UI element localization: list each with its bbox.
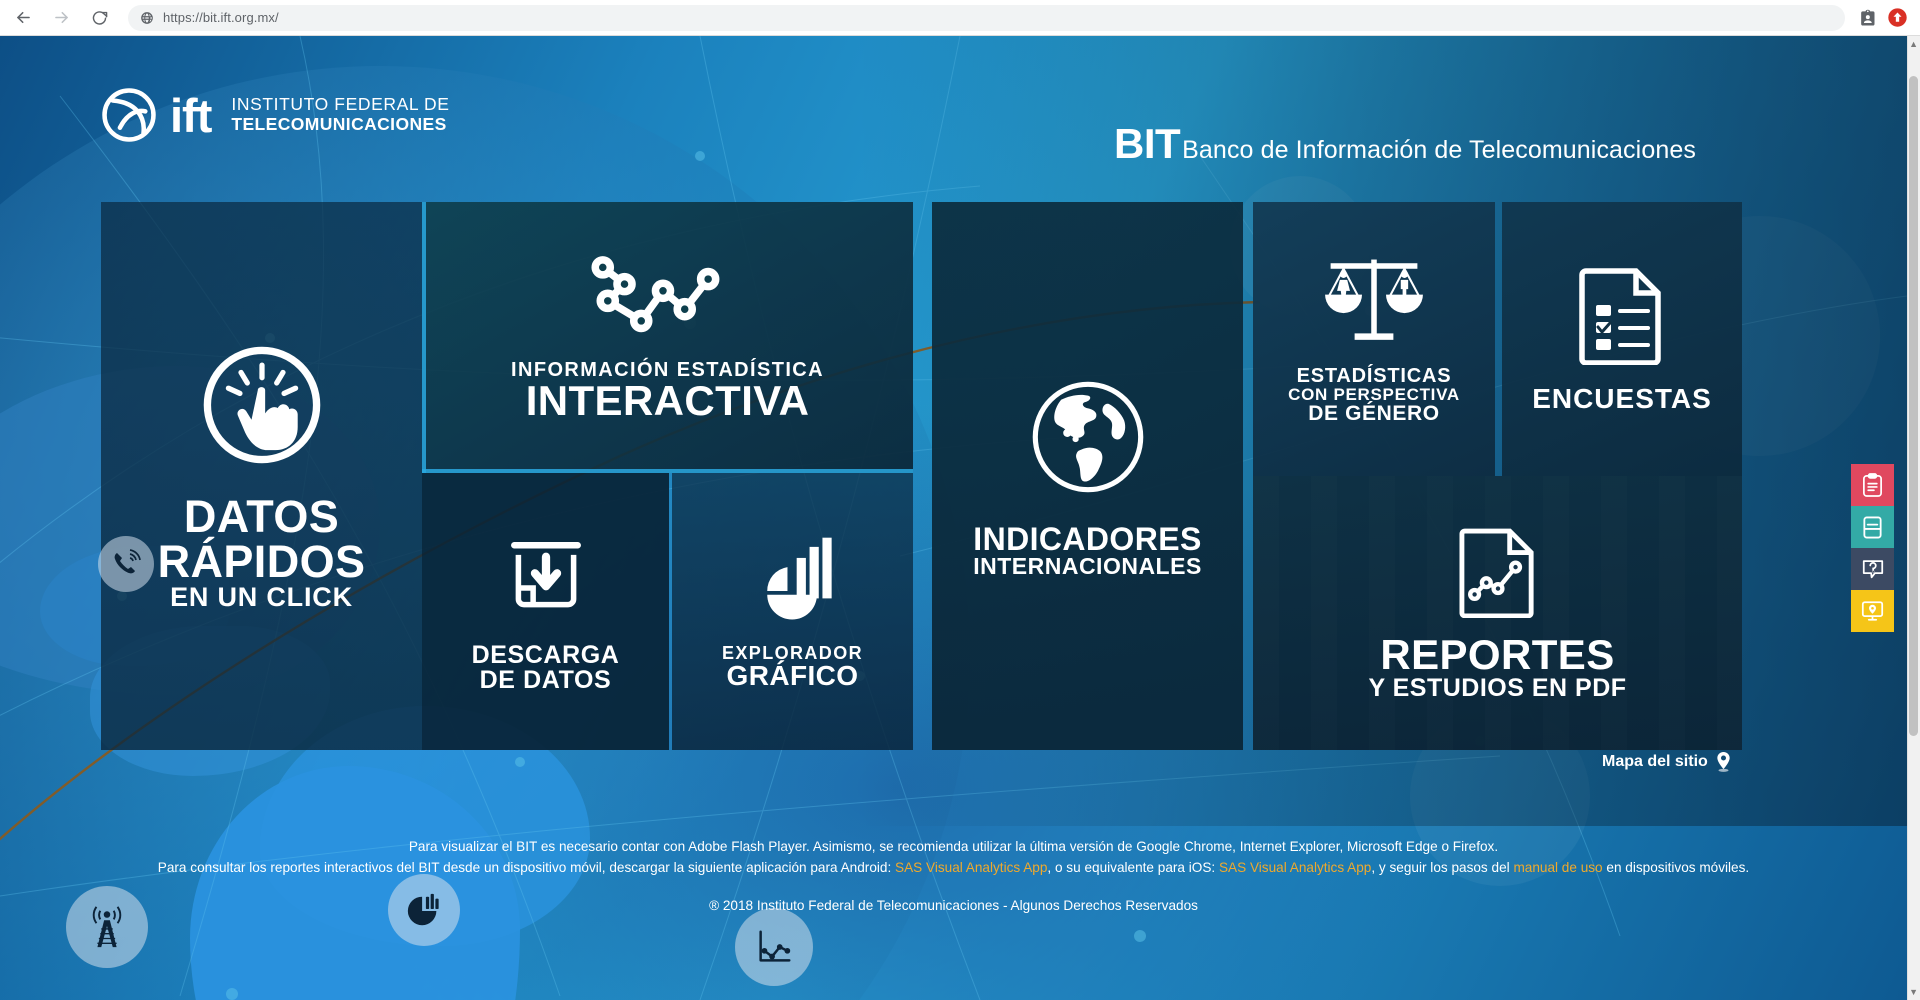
location-pin-icon	[1715, 752, 1732, 772]
copyright-text: ® 2018 Instituto Federal de Telecomunica…	[0, 898, 1907, 913]
book-icon[interactable]	[1851, 506, 1894, 548]
tile-line-2: RÁPIDOS	[158, 539, 366, 584]
tile-line-1: INDICADORES	[973, 523, 1202, 555]
tile-line-2: CON PERSPECTIVA	[1288, 386, 1460, 403]
tile-descarga-de-datos[interactable]: DESCARGA DE DATOS	[422, 473, 669, 750]
tile-indicadores-title: INDICADORES INTERNACIONALES	[973, 523, 1202, 578]
tile-explorador-title: EXPLORADOR GRÁFICO	[722, 644, 863, 690]
tile-indicadores-internacionales[interactable]: INDICADORES INTERNACIONALES	[932, 202, 1243, 750]
pie-bar-chart-icon	[747, 534, 839, 626]
url-text: https://bit.ift.org.mx/	[163, 10, 279, 25]
tile-left-accent	[422, 202, 426, 473]
red-upload-icon[interactable]	[1887, 7, 1908, 28]
tile-line-1: ESTADÍSTICAS	[1288, 366, 1460, 386]
mapa-del-sitio-link[interactable]: Mapa del sitio	[1602, 752, 1732, 772]
scrollbar-thumb[interactable]	[1909, 76, 1918, 736]
footer-notice: Para visualizar el BIT es necesario cont…	[0, 836, 1907, 878]
tile-line-3: EN UN CLICK	[158, 584, 366, 611]
tile-grid: DATOS RÁPIDOS EN UN CLICK I	[0, 36, 1907, 826]
tile-line-2: Y ESTUDIOS EN PDF	[1368, 676, 1626, 701]
footer-line2-part-a: Para consultar los reportes interactivos…	[158, 860, 895, 875]
tile-line-1: ENCUESTAS	[1532, 385, 1712, 413]
link-manual-de-uso[interactable]: manual de uso	[1513, 860, 1602, 875]
link-sas-android[interactable]: SAS Visual Analytics App	[895, 860, 1047, 875]
globe-americas-icon	[1026, 375, 1150, 499]
forward-arrow-icon[interactable]	[46, 3, 76, 33]
back-arrow-icon[interactable]	[8, 3, 38, 33]
tile-explorador-grafico[interactable]: EXPLORADOR GRÁFICO	[672, 473, 913, 750]
tile-informacion-estadistica-interactiva[interactable]: INFORMACIÓN ESTADÍSTICA INTERACTIVA	[422, 202, 913, 473]
toolbar-right-actions	[1857, 7, 1920, 28]
tile-interactiva-title: INFORMACIÓN ESTADÍSTICA INTERACTIVA	[511, 360, 824, 422]
floating-side-toolbar	[1851, 464, 1894, 632]
checklist-document-icon	[1578, 265, 1666, 365]
tile-estadisticas-genero[interactable]: ESTADÍSTICAS CON PERSPECTIVA DE GÉNERO	[1253, 202, 1495, 476]
page-scrollbar[interactable]: ▲ ▼	[1907, 36, 1920, 1000]
scroll-down-arrow-icon[interactable]: ▼	[1909, 987, 1918, 997]
browser-toolbar: https://bit.ift.org.mx/	[0, 0, 1920, 36]
antenna-tower-icon	[66, 886, 148, 968]
tile-line-1: EXPLORADOR	[722, 644, 863, 662]
tile-genero-title: ESTADÍSTICAS CON PERSPECTIVA DE GÉNERO	[1288, 366, 1460, 424]
footer-line2-part-c: , y seguir los pasos del	[1371, 860, 1513, 875]
tile-line-1: DATOS	[158, 494, 366, 539]
reload-icon[interactable]	[84, 3, 114, 33]
tile-line-2: DE DATOS	[472, 668, 620, 693]
click-hand-icon	[199, 342, 325, 468]
scroll-up-arrow-icon[interactable]: ▲	[1909, 39, 1918, 49]
tile-line-3: DE GÉNERO	[1288, 403, 1460, 424]
tile-datos-rapidos-title: DATOS RÁPIDOS EN UN CLICK	[158, 494, 366, 611]
tile-line-2: INTERNACIONALES	[973, 555, 1202, 578]
balance-scale-icon	[1314, 254, 1434, 350]
footer-line-1: Para visualizar el BIT es necesario cont…	[0, 836, 1907, 857]
mapa-del-sitio-label: Mapa del sitio	[1602, 753, 1708, 771]
pie-chart-icon	[388, 874, 460, 946]
question-bubble-icon[interactable]	[1851, 548, 1894, 590]
tile-reportes-title: REPORTES Y ESTUDIOS EN PDF	[1368, 634, 1626, 701]
tile-line-2: GRÁFICO	[722, 662, 863, 690]
globe-icon	[140, 11, 154, 25]
tile-reportes-pdf[interactable]: REPORTES Y ESTUDIOS EN PDF	[1253, 476, 1742, 750]
tile-datos-rapidos[interactable]: DATOS RÁPIDOS EN UN CLICK	[101, 202, 422, 750]
footer-line-2: Para consultar los reportes interactivos…	[0, 857, 1907, 878]
footer-line2-part-b: , o su equivalente para iOS:	[1047, 860, 1219, 875]
contact-card-icon[interactable]	[1857, 8, 1877, 28]
link-sas-ios[interactable]: SAS Visual Analytics App	[1219, 860, 1371, 875]
footer-line2-part-d: en dispositivos móviles.	[1603, 860, 1750, 875]
clipboard-icon[interactable]	[1851, 464, 1894, 506]
line-chart-icon	[735, 908, 813, 986]
tile-line-1: DESCARGA	[472, 643, 620, 668]
page-body: ift INSTITUTO FEDERAL DE TELECOMUNICACIO…	[0, 36, 1907, 1000]
network-nodes-icon	[583, 254, 753, 346]
tile-line-2: INTERACTIVA	[511, 380, 824, 422]
phone-ringing-icon	[98, 536, 154, 592]
monitor-pin-icon[interactable]	[1851, 590, 1894, 632]
address-bar[interactable]: https://bit.ift.org.mx/	[128, 5, 1845, 31]
download-tray-icon	[500, 531, 592, 623]
tile-line-1: REPORTES	[1368, 634, 1626, 676]
tile-descarga-title: DESCARGA DE DATOS	[472, 643, 620, 693]
tile-encuestas-title: ENCUESTAS	[1532, 385, 1712, 413]
document-chart-icon	[1459, 526, 1537, 618]
tile-encuestas[interactable]: ENCUESTAS	[1502, 202, 1742, 476]
